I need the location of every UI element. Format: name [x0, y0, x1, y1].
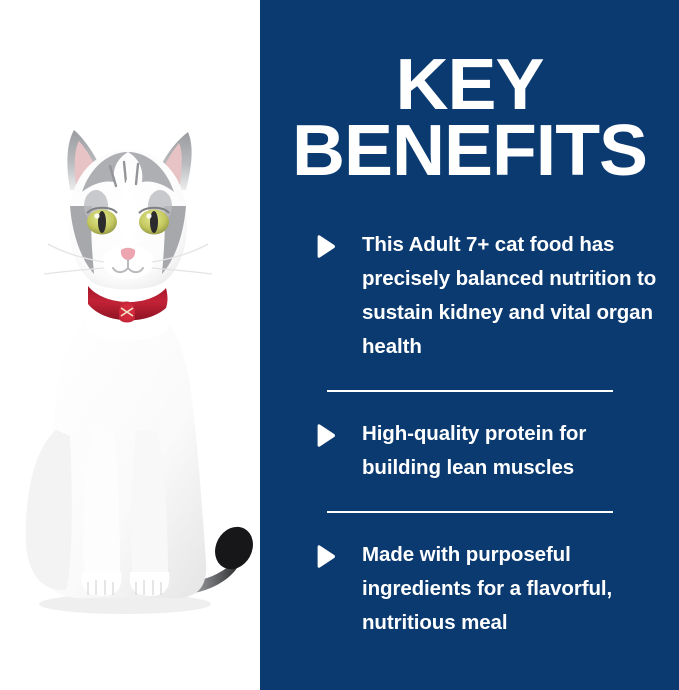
- benefits-list: This Adult 7+ cat food has precisely bal…: [260, 228, 679, 640]
- panel-title-line-1: KEY: [256, 52, 679, 118]
- benefit-item: High-quality protein for building lean m…: [260, 417, 679, 485]
- triangle-right-icon: [315, 424, 336, 447]
- benefit-item: This Adult 7+ cat food has precisely bal…: [260, 228, 679, 364]
- spacer: [260, 513, 679, 538]
- spacer: [260, 485, 679, 511]
- cat-photo-pane: [0, 0, 260, 690]
- benefit-text: This Adult 7+ cat food has precisely bal…: [362, 228, 659, 364]
- triangle-right-icon: [315, 235, 336, 258]
- benefit-text: Made with purposeful ingredients for a f…: [362, 538, 659, 640]
- panel-title-line-2: BENEFITS: [256, 118, 679, 184]
- key-benefits-graphic: KEY BENEFITS This Adult 7+ cat food has …: [0, 0, 679, 690]
- cat-photo: [0, 0, 260, 690]
- triangle-right-icon: [315, 545, 336, 568]
- panel-title: KEY BENEFITS: [260, 52, 679, 184]
- spacer: [260, 392, 679, 417]
- cat-muzzle: [102, 245, 154, 279]
- benefit-item: Made with purposeful ingredients for a f…: [260, 538, 679, 640]
- key-benefits-panel: KEY BENEFITS This Adult 7+ cat food has …: [260, 0, 679, 690]
- spacer: [260, 364, 679, 390]
- benefit-text: High-quality protein for building lean m…: [362, 417, 659, 485]
- cat-haunch: [26, 430, 72, 590]
